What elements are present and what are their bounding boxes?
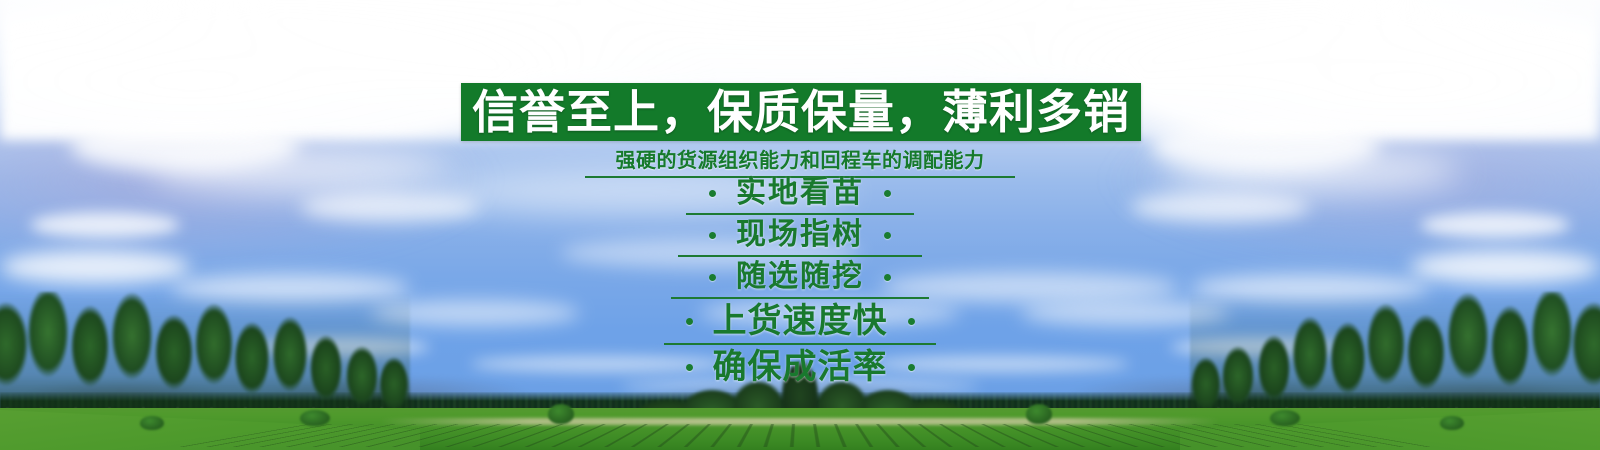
feature-underline	[664, 343, 936, 345]
bullet-dot-icon	[908, 364, 915, 371]
feature-list: 实地看苗 现场指树 随选随挖 上货速度快	[0, 178, 1600, 384]
bullet-dot-icon	[709, 232, 716, 239]
feature-label: 上货速度快	[713, 304, 888, 338]
bullet-dot-icon	[884, 190, 891, 197]
headline-text: 信誉至上，保质保量，薄利多销	[472, 89, 1130, 135]
field-bush	[1440, 416, 1464, 430]
feature-item: 实地看苗	[686, 178, 914, 220]
feature-item: 随选随挖	[671, 262, 929, 304]
feature-label: 确保成活率	[713, 350, 888, 384]
field-bush	[300, 410, 330, 426]
bullet-dot-icon	[686, 364, 693, 371]
field-bush	[140, 416, 164, 430]
feature-underline	[678, 255, 922, 257]
feature-underline	[686, 213, 914, 215]
feature-label: 实地看苗	[736, 178, 864, 208]
feature-label: 随选随挖	[736, 262, 864, 292]
feature-line: 随选随挖	[709, 262, 891, 292]
feature-item: 现场指树	[678, 220, 922, 262]
field-bush	[1026, 404, 1052, 424]
bullet-dot-icon	[884, 232, 891, 239]
bullet-dot-icon	[709, 274, 716, 281]
promo-banner: 信誉至上，保质保量，薄利多销 强硬的货源组织能力和回程车的调配能力 实地看苗 现…	[0, 0, 1600, 450]
feature-line: 上货速度快	[686, 304, 915, 338]
crop-furrows	[169, 424, 1431, 447]
bullet-dot-icon	[686, 318, 693, 325]
feature-item: 确保成活率	[686, 350, 915, 384]
field-bush	[548, 404, 574, 424]
feature-item: 上货速度快	[664, 304, 936, 350]
headline-bar: 信誉至上，保质保量，薄利多销	[461, 83, 1141, 141]
bullet-dot-icon	[884, 274, 891, 281]
feature-line: 现场指树	[709, 220, 891, 250]
feature-underline	[671, 297, 929, 299]
subtitle-text: 强硬的货源组织能力和回程车的调配能力	[616, 144, 985, 173]
field-bush	[1270, 410, 1300, 426]
feature-line: 确保成活率	[686, 350, 915, 384]
bullet-dot-icon	[709, 190, 716, 197]
bullet-dot-icon	[908, 318, 915, 325]
feature-line: 实地看苗	[709, 178, 891, 208]
subtitle-block: 强硬的货源组织能力和回程车的调配能力	[0, 144, 1600, 178]
feature-label: 现场指树	[736, 220, 864, 250]
